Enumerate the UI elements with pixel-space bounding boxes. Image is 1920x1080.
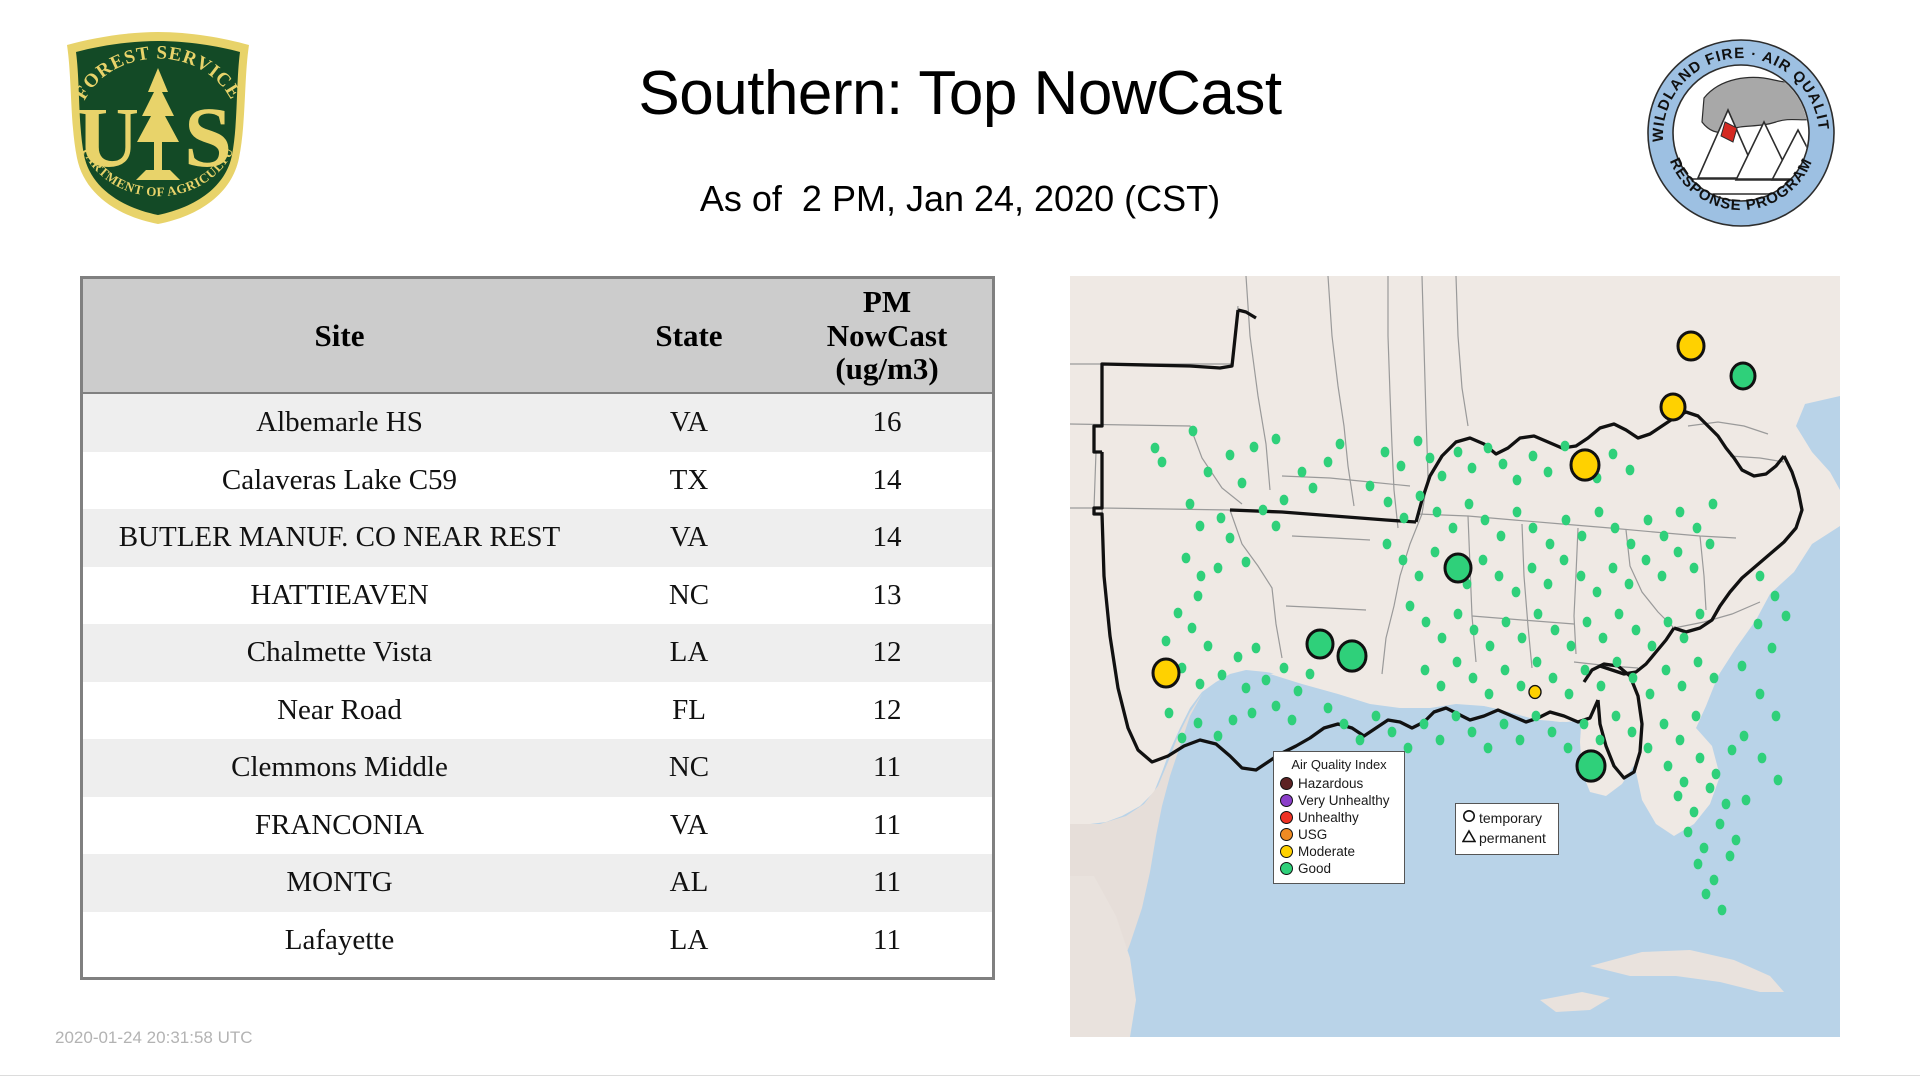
- aqi-swatch-icon: [1280, 777, 1293, 790]
- table-row: Chalmette VistaLA12: [83, 624, 992, 682]
- station-dot[interactable]: [1690, 807, 1699, 818]
- station-dot[interactable]: [1660, 719, 1669, 730]
- aqi-legend-row: Hazardous: [1280, 775, 1398, 792]
- station-dot[interactable]: [1680, 777, 1689, 788]
- column-header-value: PM NowCast (ug/m3): [782, 279, 992, 393]
- station-dot[interactable]: [1693, 523, 1702, 534]
- station-dot[interactable]: [1548, 727, 1557, 738]
- table-header-row: Site State PM NowCast (ug/m3): [83, 279, 992, 393]
- station-dot[interactable]: [1262, 675, 1271, 686]
- station-dot[interactable]: [1218, 670, 1227, 681]
- station-dot[interactable]: [1690, 563, 1699, 574]
- station-dot[interactable]: [1194, 718, 1203, 729]
- station-dot[interactable]: [1484, 443, 1493, 454]
- cell-site: HATTIEAVEN: [83, 567, 596, 625]
- station-dot[interactable]: [1174, 608, 1183, 619]
- station-dot[interactable]: [1214, 731, 1223, 742]
- column-header-value-line3: (ug/m3): [835, 351, 938, 386]
- station-dot[interactable]: [1298, 467, 1307, 478]
- station-dot[interactable]: [1513, 507, 1522, 518]
- station-dot[interactable]: [1238, 478, 1247, 489]
- aqi-legend-label: USG: [1298, 828, 1327, 841]
- table-row: Near RoadFL12: [83, 682, 992, 740]
- station-dot[interactable]: [1702, 889, 1711, 900]
- station-dot[interactable]: [1383, 539, 1392, 550]
- station-dot[interactable]: [1438, 471, 1447, 482]
- station-dot[interactable]: [1732, 835, 1741, 846]
- station-dot[interactable]: [1309, 483, 1318, 494]
- station-dot[interactable]: [1694, 859, 1703, 870]
- station-dot[interactable]: [1626, 465, 1635, 476]
- station-dot[interactable]: [1580, 719, 1589, 730]
- cell-state: NC: [596, 739, 782, 797]
- station-dot[interactable]: [1366, 481, 1375, 492]
- column-header-value-line1: PM: [863, 284, 911, 319]
- station-dot[interactable]: [1593, 587, 1602, 598]
- station-dot[interactable]: [1336, 439, 1345, 450]
- station-dot[interactable]: [1272, 521, 1281, 532]
- station-dot[interactable]: [1196, 521, 1205, 532]
- station-dot[interactable]: [1706, 539, 1715, 550]
- aqi-swatch-icon: [1280, 845, 1293, 858]
- station-dot[interactable]: [1700, 843, 1709, 854]
- station-dot[interactable]: [1612, 711, 1621, 722]
- station-dot[interactable]: [1680, 633, 1689, 644]
- station-dot[interactable]: [1151, 443, 1160, 454]
- cell-site: Chalmette Vista: [83, 624, 596, 682]
- aqi-swatch-icon: [1280, 794, 1293, 807]
- station-dot[interactable]: [1660, 531, 1669, 542]
- station-dot[interactable]: [1644, 515, 1653, 526]
- station-dot[interactable]: [1372, 711, 1381, 722]
- station-dot[interactable]: [1340, 719, 1349, 730]
- station-dot[interactable]: [1196, 679, 1205, 690]
- station-dot[interactable]: [1259, 505, 1268, 516]
- legend-row-temporary: temporary: [1461, 808, 1554, 828]
- station-dot[interactable]: [1627, 539, 1636, 550]
- station-dot[interactable]: [1197, 571, 1206, 582]
- cell-state: VA: [596, 393, 782, 452]
- aqi-swatch-icon: [1280, 862, 1293, 875]
- highlighted-station-marker[interactable]: [1678, 332, 1704, 360]
- table-row: HATTIEAVENNC13: [83, 567, 992, 625]
- station-dot[interactable]: [1646, 689, 1655, 700]
- cell-site: BUTLER MANUF. CO NEAR REST: [83, 509, 596, 567]
- station-dot[interactable]: [1481, 515, 1490, 526]
- station-dot[interactable]: [1696, 753, 1705, 764]
- cell-state: VA: [596, 509, 782, 567]
- generation-timestamp: 2020-01-24 20:31:58 UTC: [55, 1028, 253, 1048]
- station-dot[interactable]: [1517, 681, 1526, 692]
- station-dot[interactable]: [1381, 447, 1390, 458]
- cell-site: MONTG: [83, 854, 596, 912]
- aqi-legend-title: Air Quality Index: [1280, 757, 1398, 772]
- station-dot[interactable]: [1564, 743, 1573, 754]
- station-dot[interactable]: [1324, 457, 1333, 468]
- table-row: BUTLER MANUF. CO NEAR RESTVA14: [83, 509, 992, 567]
- station-dot[interactable]: [1740, 731, 1749, 742]
- station-dot[interactable]: [1674, 547, 1683, 558]
- station-dot[interactable]: [1470, 625, 1479, 636]
- station-dot[interactable]: [1754, 619, 1763, 630]
- station-dot[interactable]: [1565, 689, 1574, 700]
- cell-state: LA: [596, 912, 782, 970]
- station-dot[interactable]: [1596, 735, 1605, 746]
- station-dot[interactable]: [1420, 719, 1429, 730]
- cell-site: Clemmons Middle: [83, 739, 596, 797]
- station-dot[interactable]: [1632, 625, 1641, 636]
- cell-site: Calaveras Lake C59: [83, 452, 596, 510]
- station-dot[interactable]: [1583, 617, 1592, 628]
- station-dot[interactable]: [1158, 457, 1167, 468]
- station-dot[interactable]: [1214, 563, 1223, 574]
- table-row: Albemarle HSVA16: [83, 393, 992, 452]
- station-dot[interactable]: [1452, 711, 1461, 722]
- station-dot[interactable]: [1609, 449, 1618, 460]
- cell-state: NC: [596, 567, 782, 625]
- station-dot[interactable]: [1454, 447, 1463, 458]
- table-row: FRANCONIAVA11: [83, 797, 992, 855]
- legend-label-permanent: permanent: [1479, 831, 1546, 846]
- station-dot[interactable]: [1288, 715, 1297, 726]
- station-dot[interactable]: [1544, 467, 1553, 478]
- station-dot[interactable]: [1658, 571, 1667, 582]
- station-dot[interactable]: [1694, 657, 1703, 668]
- aqi-legend-label: Hazardous: [1298, 777, 1363, 790]
- cell-value: 11: [782, 912, 992, 970]
- station-dot[interactable]: [1528, 563, 1537, 574]
- station-dot[interactable]: [1512, 587, 1521, 598]
- station-dot[interactable]: [1468, 463, 1477, 474]
- station-dot[interactable]: [1518, 633, 1527, 644]
- station-dot[interactable]: [1252, 643, 1261, 654]
- aqi-legend-row: USG: [1280, 826, 1398, 843]
- station-dot[interactable]: [1468, 727, 1477, 738]
- cell-value: 11: [782, 739, 992, 797]
- station-dot[interactable]: [1768, 643, 1777, 654]
- station-dot[interactable]: [1567, 641, 1576, 652]
- station-dot[interactable]: [1484, 743, 1493, 754]
- station-dot[interactable]: [1561, 441, 1570, 452]
- station-dot[interactable]: [1280, 495, 1289, 506]
- station-dot[interactable]: [1544, 579, 1553, 590]
- station-dot[interactable]: [1415, 571, 1424, 582]
- station-dot[interactable]: [1692, 711, 1701, 722]
- station-dot[interactable]: [1242, 683, 1251, 694]
- column-header-state: State: [596, 279, 782, 393]
- station-dot[interactable]: [1479, 555, 1488, 566]
- station-dot[interactable]: [1613, 657, 1622, 668]
- cell-state: AL: [596, 854, 782, 912]
- station-dot[interactable]: [1664, 761, 1673, 772]
- station-dot[interactable]: [1684, 827, 1693, 838]
- cell-site: Albemarle HS: [83, 393, 596, 452]
- station-dot[interactable]: [1709, 499, 1718, 510]
- station-dot[interactable]: [1532, 711, 1541, 722]
- station-dot[interactable]: [1294, 686, 1303, 697]
- legend-row-permanent: permanent: [1461, 828, 1554, 848]
- station-dot[interactable]: [1615, 609, 1624, 620]
- station-dot[interactable]: [1722, 799, 1731, 810]
- station-dot[interactable]: [1664, 617, 1673, 628]
- highlighted-station-marker[interactable]: [1577, 751, 1605, 781]
- page-subtitle: As of 2 PM, Jan 24, 2020 (CST): [0, 178, 1920, 220]
- station-dot[interactable]: [1712, 769, 1721, 780]
- station-dot[interactable]: [1716, 819, 1725, 830]
- station-dot[interactable]: [1578, 531, 1587, 542]
- cell-state: FL: [596, 682, 782, 740]
- table-row: LafayetteLA11: [83, 912, 992, 970]
- marker-type-legend: temporary permanent: [1455, 803, 1559, 855]
- aqi-legend-row: Moderate: [1280, 843, 1398, 860]
- cell-value: 14: [782, 509, 992, 567]
- cell-site: Near Road: [83, 682, 596, 740]
- aqi-legend-label: Good: [1298, 862, 1331, 875]
- station-dot[interactable]: [1186, 499, 1195, 510]
- station-dot[interactable]: [1676, 735, 1685, 746]
- table-row: Clemmons MiddleNC11: [83, 739, 992, 797]
- station-dot[interactable]: [1738, 661, 1747, 672]
- station-dot[interactable]: [1399, 555, 1408, 566]
- station-dot[interactable]: [1595, 507, 1604, 518]
- station-dot[interactable]: [1438, 633, 1447, 644]
- station-dot[interactable]: [1742, 795, 1751, 806]
- station-dot[interactable]: [1625, 579, 1634, 590]
- station-dot[interactable]: [1433, 507, 1442, 518]
- station-dot[interactable]: [1772, 711, 1781, 722]
- station-dot[interactable]: [1560, 555, 1569, 566]
- station-dot[interactable]: [1581, 665, 1590, 676]
- station-dot[interactable]: [1465, 499, 1474, 510]
- station-dot[interactable]: [1485, 689, 1494, 700]
- aqi-legend-label: Moderate: [1298, 845, 1355, 858]
- station-dot[interactable]: [1628, 727, 1637, 738]
- station-dot[interactable]: [1280, 663, 1289, 674]
- station-dot[interactable]: [1756, 689, 1765, 700]
- station-dot[interactable]: [1577, 571, 1586, 582]
- station-dot[interactable]: [1495, 571, 1504, 582]
- station-dot[interactable]: [1242, 557, 1251, 568]
- cell-value: 13: [782, 567, 992, 625]
- station-dot[interactable]: [1453, 657, 1462, 668]
- highlighted-station-marker[interactable]: [1338, 641, 1366, 671]
- cell-state: VA: [596, 797, 782, 855]
- cell-state: TX: [596, 452, 782, 510]
- station-dot[interactable]: [1421, 665, 1430, 676]
- station-dot[interactable]: [1513, 475, 1522, 486]
- station-dot[interactable]: [1771, 591, 1780, 602]
- cell-value: 11: [782, 854, 992, 912]
- cell-state: LA: [596, 624, 782, 682]
- station-dot[interactable]: [1501, 665, 1510, 676]
- cell-site: Lafayette: [83, 912, 596, 970]
- station-dot[interactable]: [1629, 673, 1638, 684]
- page-title: Southern: Top NowCast: [0, 58, 1920, 129]
- station-dot[interactable]: [1551, 625, 1560, 636]
- station-dot[interactable]: [1204, 467, 1213, 478]
- highlighted-station-marker[interactable]: [1661, 394, 1685, 420]
- station-dot[interactable]: [1782, 611, 1791, 622]
- aqi-legend-label: Unhealthy: [1298, 811, 1359, 824]
- highlighted-station-marker[interactable]: [1571, 450, 1599, 480]
- station-dot[interactable]: [1710, 673, 1719, 684]
- station-dot[interactable]: [1449, 523, 1458, 534]
- station-dot[interactable]: [1497, 531, 1506, 542]
- station-dot[interactable]: [1194, 591, 1203, 602]
- station-dot[interactable]: [1422, 617, 1431, 628]
- top-nowcast-table: Site State PM NowCast (ug/m3) Albemarle …: [80, 276, 995, 980]
- station-dot[interactable]: [1642, 555, 1651, 566]
- cell-value: 11: [782, 797, 992, 855]
- station-dot[interactable]: [1226, 533, 1235, 544]
- station-dot[interactable]: [1384, 497, 1393, 508]
- station-dot[interactable]: [1165, 708, 1174, 719]
- station-dot[interactable]: [1400, 513, 1409, 524]
- station-dot[interactable]: [1706, 783, 1715, 794]
- station-dot[interactable]: [1516, 735, 1525, 746]
- station-dot[interactable]: [1248, 708, 1257, 719]
- station-dot[interactable]: [1529, 523, 1538, 534]
- station-dot[interactable]: [1426, 453, 1435, 464]
- station-dot[interactable]: [1272, 701, 1281, 712]
- station-dot[interactable]: [1728, 745, 1737, 756]
- column-header-value-line2: NowCast: [827, 318, 948, 353]
- station-dot[interactable]: [1644, 743, 1653, 754]
- highlighted-station-marker[interactable]: [1307, 630, 1333, 658]
- aqi-legend-row: Unhealthy: [1280, 809, 1398, 826]
- station-dot[interactable]: [1188, 623, 1197, 634]
- station-dot[interactable]: [1546, 539, 1555, 550]
- station-dot[interactable]: [1217, 513, 1226, 524]
- station-dot[interactable]: [1726, 851, 1735, 862]
- station-dot[interactable]: [1533, 657, 1542, 668]
- station-dot[interactable]: [1534, 609, 1543, 620]
- cell-value: 12: [782, 624, 992, 682]
- aqi-legend: Air Quality Index HazardousVery Unhealth…: [1273, 751, 1405, 884]
- cell-site: FRANCONIA: [83, 797, 596, 855]
- highlighted-station-marker[interactable]: [1445, 554, 1471, 582]
- column-header-site: Site: [83, 279, 596, 393]
- aqi-legend-row: Very Unhealthy: [1280, 792, 1398, 809]
- station-dot[interactable]: [1609, 563, 1618, 574]
- highlighted-station-marker[interactable]: [1731, 363, 1755, 389]
- legend-label-temporary: temporary: [1479, 811, 1542, 826]
- station-dot[interactable]: [1250, 442, 1259, 453]
- station-dot[interactable]: [1696, 609, 1705, 620]
- station-dot[interactable]: [1562, 515, 1571, 526]
- station-dot[interactable]: [1648, 641, 1657, 652]
- station-dot[interactable]: [1710, 875, 1719, 886]
- station-dot[interactable]: [1599, 633, 1608, 644]
- station-dot[interactable]: [1229, 715, 1238, 726]
- station-dot[interactable]: [1549, 673, 1558, 684]
- station-dot[interactable]: [1500, 719, 1509, 730]
- station-dot[interactable]: [1758, 753, 1767, 764]
- air-quality-station-map[interactable]: Air Quality Index HazardousVery Unhealth…: [1070, 276, 1840, 1037]
- cell-value: 12: [782, 682, 992, 740]
- aqi-swatch-icon: [1280, 811, 1293, 824]
- station-dot[interactable]: [1162, 636, 1171, 647]
- station-dot[interactable]: [1416, 491, 1425, 502]
- station-dot[interactable]: [1406, 601, 1415, 612]
- station-dot[interactable]: [1306, 669, 1315, 680]
- highlighted-station-marker[interactable]: [1153, 659, 1179, 687]
- station-dot[interactable]: [1499, 459, 1508, 470]
- station-dot[interactable]: [1529, 451, 1538, 462]
- aqi-swatch-icon: [1280, 828, 1293, 841]
- station-dot[interactable]: [1676, 507, 1685, 518]
- station-dot[interactable]: [1756, 571, 1765, 582]
- station-dot[interactable]: [1204, 641, 1213, 652]
- permanent-triangle-icon: [1461, 829, 1477, 848]
- station-dot[interactable]: [1356, 735, 1365, 746]
- station-dot[interactable]: [1397, 461, 1406, 472]
- table-row: MONTGAL11: [83, 854, 992, 912]
- station-dot[interactable]: [1611, 523, 1620, 534]
- cell-value: 16: [782, 393, 992, 452]
- table-row: Calaveras Lake C59TX14: [83, 452, 992, 510]
- station-dot[interactable]: [1178, 733, 1187, 744]
- station-dot[interactable]: [1414, 436, 1423, 447]
- station-dot[interactable]: [1502, 617, 1511, 628]
- station-dot[interactable]: [1436, 735, 1445, 746]
- station-dot[interactable]: [1486, 641, 1495, 652]
- station-dot[interactable]: [1324, 703, 1333, 714]
- aqi-legend-row: Good: [1280, 860, 1398, 877]
- bottom-divider: [0, 1075, 1920, 1076]
- station-dot[interactable]: [1774, 775, 1783, 786]
- station-dot[interactable]: [1674, 791, 1683, 802]
- station-dot[interactable]: [1226, 450, 1235, 461]
- station-dot[interactable]: [1388, 727, 1397, 738]
- station-dot[interactable]: [1272, 434, 1281, 445]
- station-dot[interactable]: [1469, 673, 1478, 684]
- station-dot[interactable]: [1718, 905, 1727, 916]
- temporary-circle-icon: [1461, 809, 1477, 828]
- station-dot[interactable]: [1189, 426, 1198, 437]
- station-dot[interactable]: [1182, 553, 1191, 564]
- station-dot[interactable]: [1662, 665, 1671, 676]
- aqi-legend-label: Very Unhealthy: [1298, 794, 1390, 807]
- station-dot[interactable]: [1234, 652, 1243, 663]
- station-dot[interactable]: [1431, 547, 1440, 558]
- station-dot[interactable]: [1454, 609, 1463, 620]
- station-dot[interactable]: [1597, 681, 1606, 692]
- station-dot[interactable]: [1678, 681, 1687, 692]
- cell-value: 14: [782, 452, 992, 510]
- highlighted-station-marker[interactable]: [1529, 686, 1541, 699]
- station-dot[interactable]: [1437, 681, 1446, 692]
